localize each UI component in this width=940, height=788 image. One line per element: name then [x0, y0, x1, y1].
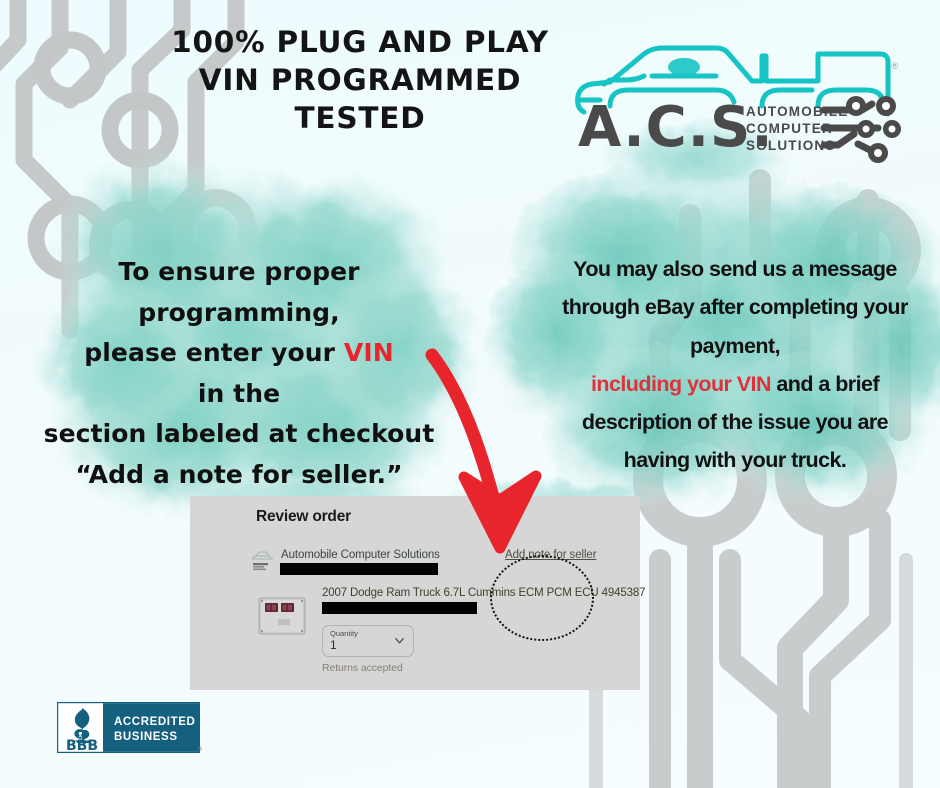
chevron-down-icon	[394, 635, 405, 646]
returns-accepted-text: Returns accepted	[322, 662, 403, 674]
bbb-badge-graphic: BBB ACCREDITED BUSINESS	[57, 702, 200, 753]
logo-initials: A.C.S.	[578, 95, 774, 160]
acs-brand-logo: A.C.S. AUTOMOBILE COMPUTER SOLUTIONS	[566, 34, 906, 166]
right-line-4-text: and a brief	[771, 372, 879, 396]
right-line-3: payment,	[545, 327, 925, 365]
headline-line-3: TESTED	[120, 100, 600, 138]
promo-graphic-canvas: 100% PLUG AND PLAY VIN PROGRAMMED TESTED…	[0, 0, 940, 788]
left-line-4: in the	[24, 374, 454, 415]
right-line-6: having with your truck.	[545, 441, 925, 479]
bbb-acronym: BBB	[66, 738, 98, 753]
truck-outline-icon: A.C.S. AUTOMOBILE COMPUTER SOLUTIONS	[566, 34, 906, 166]
bbb-line-1: ACCREDITED	[114, 716, 195, 728]
bbb-registered-mark-icon: ®	[198, 747, 202, 753]
logo-tagline-line-2: COMPUTER	[746, 121, 833, 136]
redacted-item-price	[322, 602, 477, 614]
headline-block: 100% PLUG AND PLAY VIN PROGRAMMED TESTED	[120, 24, 600, 137]
quantity-label: Quantity	[330, 629, 358, 638]
seller-logo-icon	[250, 547, 276, 573]
review-order-title: Review order	[256, 508, 351, 526]
highlight-dotted-circle	[490, 555, 594, 641]
left-line-3: please enter your VIN	[24, 333, 454, 374]
quantity-select[interactable]: Quantity 1	[322, 625, 414, 657]
left-instruction-block: To ensure proper programming, please ent…	[24, 252, 454, 495]
ebay-review-order-screenshot: Review order Automobile Computer Solutio…	[190, 496, 640, 690]
left-line-5: section labeled at checkout	[24, 414, 454, 455]
vin-highlight: VIN	[344, 338, 394, 367]
right-line-5: description of the issue you are	[545, 403, 925, 441]
redacted-seller-info	[280, 563, 438, 575]
quantity-value: 1	[330, 638, 337, 652]
order-item-title: 2007 Dodge Ram Truck 6.7L Cummins ECM PC…	[322, 587, 645, 599]
right-line-1: You may also send us a message	[545, 250, 925, 288]
left-line-3-text: please enter your	[84, 338, 344, 367]
right-line-2: through eBay after completing your	[545, 288, 925, 326]
seller-name: Automobile Computer Solutions	[281, 549, 440, 561]
left-line-6: “Add a note for seller.”	[24, 455, 454, 496]
right-line-4: including your VIN and a brief	[545, 365, 925, 403]
right-instruction-block: You may also send us a message through e…	[545, 250, 925, 480]
left-line-1: To ensure proper	[24, 252, 454, 293]
bbb-line-2: BUSINESS	[114, 731, 178, 743]
bbb-accredited-business-badge: BBB ACCREDITED BUSINESS ®	[57, 702, 200, 753]
headline-line-1: 100% PLUG AND PLAY	[120, 24, 600, 62]
vin-highlight-2: including your VIN	[591, 372, 771, 396]
headline-line-2: VIN PROGRAMMED	[120, 62, 600, 100]
seller-row: Automobile Computer Solutions Add note f…	[250, 547, 630, 577]
left-line-2: programming,	[24, 293, 454, 334]
registered-trademark-icon: ®	[891, 61, 898, 71]
ecm-module-image	[254, 592, 312, 642]
